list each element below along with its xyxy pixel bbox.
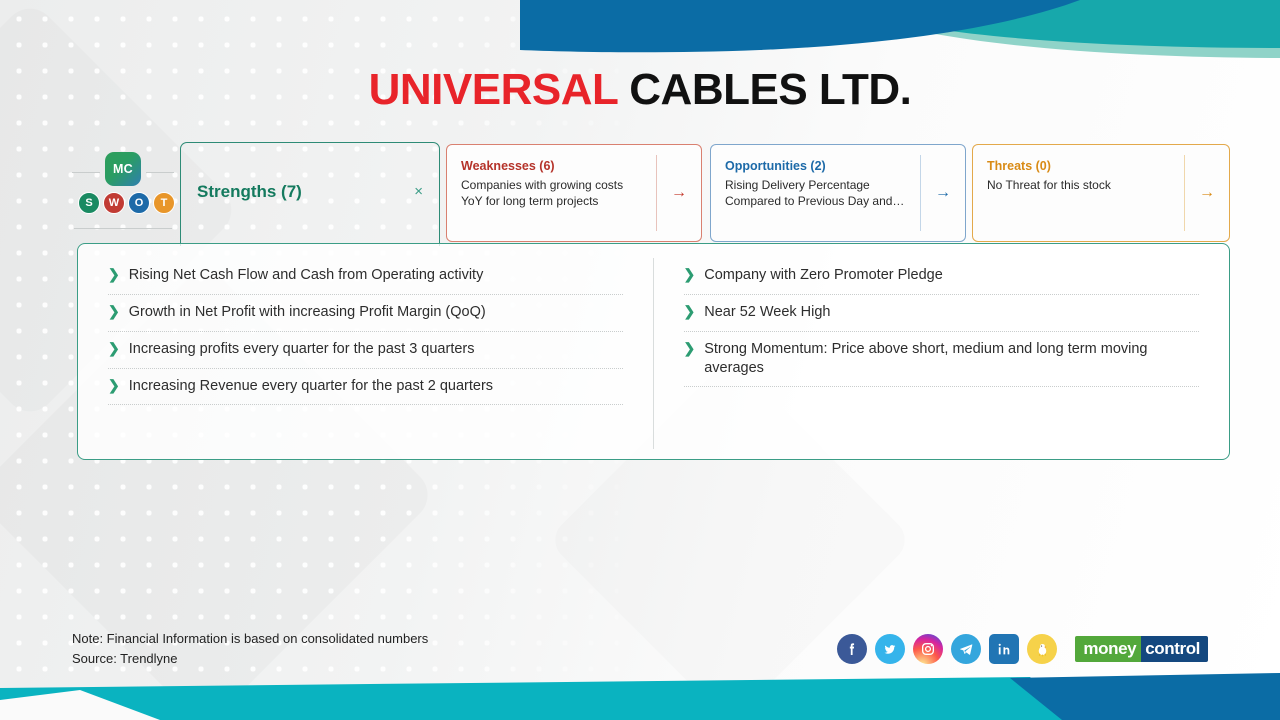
list-item: ❯Growth in Net Profit with increasing Pr… [108,295,623,332]
list-item-label: Growth in Net Profit with increasing Pro… [129,303,486,322]
chevron-right-icon: ❯ [684,340,696,358]
chevron-right-icon: ❯ [684,303,696,321]
tab-opportunities-body: Opportunities (2) Rising Delivery Percen… [711,145,920,241]
tab-weaknesses-title: Weaknesses (6) [461,159,646,173]
footer-note-line1: Note: Financial Information is based on … [72,629,428,649]
tab-strengths[interactable]: Strengths (7) × [180,142,440,246]
moneycontrol-logo-money: money [1075,636,1141,662]
title-company-name: UNIVERSAL [369,65,618,114]
list-item-label: Increasing profits every quarter for the… [129,340,475,359]
footer-note: Note: Financial Information is based on … [72,629,428,669]
list-item: ❯Rising Net Cash Flow and Cash from Oper… [108,258,623,295]
footer-source-line: Source: Trendlyne [72,649,428,669]
tab-strengths-label: Strengths (7) [197,182,302,202]
slide-canvas: UNIVERSAL CABLES LTD. MC S W O T Strengt… [0,0,1280,720]
title-company-suffix: CABLES LTD. [629,65,911,114]
tab-threats-body: Threats (0) No Threat for this stock [973,145,1184,241]
linkedin-icon[interactable] [989,634,1019,664]
moneycontrol-logo[interactable]: money control [1075,636,1208,662]
strengths-content-panel: ❯Rising Net Cash Flow and Cash from Oper… [77,243,1230,460]
tab-opportunities-subtitle: Rising Delivery Percentage Compared to P… [725,177,910,209]
page-title: UNIVERSAL CABLES LTD. [0,66,1280,114]
instagram-icon[interactable] [913,634,943,664]
list-item-label: Rising Net Cash Flow and Cash from Opera… [129,266,484,285]
list-item: ❯Company with Zero Promoter Pledge [684,258,1200,295]
tab-opportunities[interactable]: Opportunities (2) Rising Delivery Percen… [710,144,966,242]
tab-weaknesses[interactable]: Weaknesses (6) Companies with growing co… [446,144,702,242]
list-item-label: Near 52 Week High [704,303,830,322]
tab-threats[interactable]: Threats (0) No Threat for this stock → [972,144,1230,242]
strengths-column-right: ❯Company with Zero Promoter Pledge❯Near … [654,258,1230,449]
chevron-right-icon: ❯ [108,377,120,395]
telegram-icon[interactable] [951,634,981,664]
list-item-label: Strong Momentum: Price above short, medi… [704,340,1199,378]
arrow-right-icon[interactable]: → [921,145,965,241]
list-item-label: Company with Zero Promoter Pledge [704,266,943,285]
swot-tab-row: Strengths (7) × Weaknesses (6) Companies… [0,140,1280,245]
strengths-column-left: ❯Rising Net Cash Flow and Cash from Oper… [78,258,654,449]
tab-weaknesses-body: Weaknesses (6) Companies with growing co… [447,145,656,241]
arrow-right-icon[interactable]: → [657,145,701,241]
twitter-icon[interactable] [875,634,905,664]
tab-opportunities-title: Opportunities (2) [725,159,910,173]
list-item: ❯Strong Momentum: Price above short, med… [684,332,1200,388]
tab-threats-title: Threats (0) [987,159,1174,173]
chevron-right-icon: ❯ [684,266,696,284]
arrow-right-icon[interactable]: → [1185,145,1229,241]
list-item: ❯Increasing Revenue every quarter for th… [108,369,623,406]
chevron-right-icon: ❯ [108,340,120,358]
facebook-icon[interactable] [837,634,867,664]
tab-threats-subtitle: No Threat for this stock [987,177,1174,193]
chevron-right-icon: ❯ [108,303,120,321]
list-item-label: Increasing Revenue every quarter for the… [129,377,493,396]
tab-weaknesses-subtitle: Companies with growing costs YoY for lon… [461,177,646,209]
koo-icon[interactable] [1027,634,1057,664]
list-item: ❯Near 52 Week High [684,295,1200,332]
close-icon[interactable]: × [414,184,423,199]
social-links: money control [837,634,1208,664]
moneycontrol-logo-control: control [1141,636,1208,662]
chevron-right-icon: ❯ [108,266,120,284]
list-item: ❯Increasing profits every quarter for th… [108,332,623,369]
